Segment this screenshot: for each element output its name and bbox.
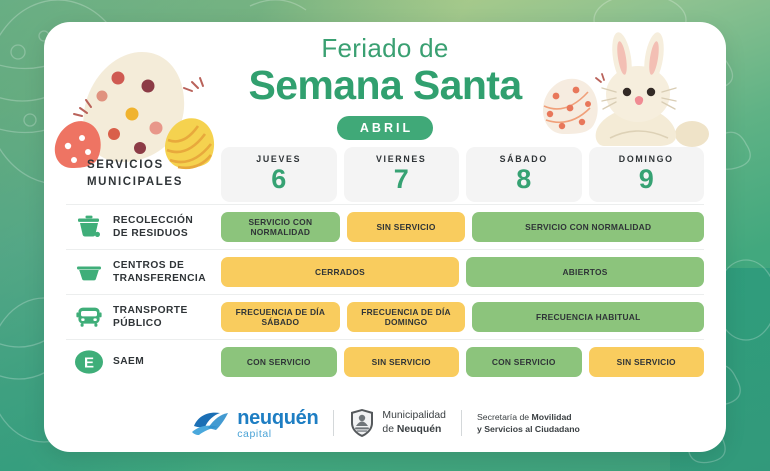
status-badge: SIN SERVICIO <box>589 347 705 377</box>
status-badge: SIN SERVICIO <box>344 347 460 377</box>
header: Feriado de Semana Santa ABRIL <box>44 34 726 140</box>
row-label-transporte: TRANSPORTE PÚBLICO <box>66 302 221 333</box>
status-badge: CON SERVICIO <box>221 347 337 377</box>
row-badges-transporte: FRECUENCIA DE DÍA SÁBADO FRECUENCIA DE D… <box>221 302 704 332</box>
row-label-centros: CENTROS DE TRANSFERENCIA <box>66 257 221 288</box>
municipalidad-text: Municipalidad de Neuquén <box>382 409 446 437</box>
row-label-saem: E SAEM <box>66 347 221 378</box>
day-box-jueves: JUEVES 6 <box>221 147 337 202</box>
table-header-row: SERVICIOS MUNICIPALES JUEVES 6 VIERNES <box>66 144 704 204</box>
day-number: 8 <box>516 165 531 193</box>
services-table: SERVICIOS MUNICIPALES JUEVES 6 VIERNES <box>66 144 704 384</box>
row-name-line1: SAEM <box>113 355 144 368</box>
row-name-recoleccion: RECOLECCIÓN DE RESIDUOS <box>113 214 193 241</box>
row-label-recoleccion: RECOLECCIÓN DE RESIDUOS <box>66 212 221 243</box>
sec-line2-bold: y Servicios al Ciudadano <box>477 424 580 434</box>
day-header-cell: SÁBADO 8 <box>466 147 582 202</box>
day-box-domingo: DOMINGO 9 <box>589 147 705 202</box>
muni-line1: Municipalidad <box>382 409 446 423</box>
corner-label-line2: MUNICIPALES <box>87 174 183 191</box>
muni-line2: de Neuquén <box>382 423 446 437</box>
day-header-cell: DOMINGO 9 <box>589 147 705 202</box>
neuquen-capital-logo: neuquén capital <box>175 408 333 440</box>
footer: neuquén capital Municipalidad de Neuquén <box>44 408 726 440</box>
row-name-line1: CENTROS DE <box>113 259 206 272</box>
brand-name: neuquén <box>237 408 318 428</box>
svg-text:E: E <box>83 355 93 372</box>
sec-line1-bold: Movilidad <box>532 412 572 422</box>
day-name: JUEVES <box>256 154 301 164</box>
brand-sub: capital <box>237 429 318 440</box>
status-badge: FRECUENCIA DE DÍA SÁBADO <box>221 302 340 332</box>
neuquen-wave-icon <box>190 408 230 438</box>
corner-label-line1: SERVICIOS <box>87 157 183 174</box>
sec-line1-plain: Secretaría de <box>477 412 532 422</box>
status-badge: SIN SERVICIO <box>347 212 466 242</box>
bus-icon <box>73 302 104 333</box>
day-header-cell: JUEVES 6 <box>221 147 337 202</box>
muni-line2-plain: de <box>382 424 396 435</box>
day-name: DOMINGO <box>619 154 674 164</box>
sec-line2: y Servicios al Ciudadano <box>477 423 580 436</box>
row-name-centros: CENTROS DE TRANSFERENCIA <box>113 259 206 286</box>
day-box-sabado: SÁBADO 8 <box>466 147 582 202</box>
municipal-shield-icon <box>349 408 375 438</box>
row-name-line2: DE RESIDUOS <box>113 227 193 240</box>
trash-bin-icon <box>73 212 104 243</box>
municipalidad-logo: Municipalidad de Neuquén <box>334 408 461 438</box>
status-badge: CERRADOS <box>221 257 459 287</box>
row-badges-recoleccion: SERVICIO CON NORMALIDAD SIN SERVICIO SER… <box>221 212 704 242</box>
table-row-centros: CENTROS DE TRANSFERENCIA CERRADOS ABIERT… <box>66 249 704 294</box>
transfer-container-icon <box>73 257 104 288</box>
row-name-line2: PÚBLICO <box>113 317 188 330</box>
day-number: 6 <box>271 165 286 193</box>
day-name: VIERNES <box>376 154 427 164</box>
sec-line1: Secretaría de Movilidad <box>477 411 580 424</box>
day-number: 7 <box>394 165 409 193</box>
day-headers: JUEVES 6 VIERNES 7 SÁBADO 8 <box>221 147 704 202</box>
secretaria-text-block: Secretaría de Movilidad y Servicios al C… <box>462 411 595 436</box>
main-card: Feriado de Semana Santa ABRIL SERVICIOS … <box>44 22 726 452</box>
secretaria-text: Secretaría de Movilidad y Servicios al C… <box>477 411 580 436</box>
neuquen-wordmark: neuquén capital <box>237 408 318 440</box>
row-badges-saem: CON SERVICIO SIN SERVICIO CON SERVICIO S… <box>221 347 704 377</box>
status-badge: CON SERVICIO <box>466 347 582 377</box>
row-name-saem: SAEM <box>113 355 144 368</box>
status-badge: ABIERTOS <box>466 257 704 287</box>
row-name-line1: RECOLECCIÓN <box>113 214 193 227</box>
row-name-transporte: TRANSPORTE PÚBLICO <box>113 304 188 331</box>
row-name-line1: TRANSPORTE <box>113 304 188 317</box>
muni-line2-bold: Neuquén <box>397 424 441 435</box>
row-name-line2: TRANSFERENCIA <box>113 272 206 285</box>
infographic-canvas: Feriado de Semana Santa ABRIL SERVICIOS … <box>0 0 770 471</box>
day-name: SÁBADO <box>500 154 548 164</box>
status-badge: SERVICIO CON NORMALIDAD <box>221 212 340 242</box>
table-row-recoleccion: RECOLECCIÓN DE RESIDUOS SERVICIO CON NOR… <box>66 204 704 249</box>
day-header-cell: VIERNES 7 <box>344 147 460 202</box>
table-row-saem: E SAEM CON SERVICIO SIN SERVICIO CON SER… <box>66 339 704 384</box>
day-box-viernes: VIERNES 7 <box>344 147 460 202</box>
month-badge: ABRIL <box>337 116 433 140</box>
day-number: 9 <box>639 165 654 193</box>
table-corner-label: SERVICIOS MUNICIPALES <box>66 157 221 190</box>
saem-e-icon: E <box>73 347 104 378</box>
table-row-transporte: TRANSPORTE PÚBLICO FRECUENCIA DE DÍA SÁB… <box>66 294 704 339</box>
header-subtitle: Feriado de <box>44 34 726 64</box>
status-badge: FRECUENCIA DE DÍA DOMINGO <box>347 302 466 332</box>
page-title: Semana Santa <box>44 63 726 109</box>
status-badge: FRECUENCIA HABITUAL <box>472 302 704 332</box>
status-badge: SERVICIO CON NORMALIDAD <box>472 212 704 242</box>
row-badges-centros: CERRADOS ABIERTOS <box>221 257 704 287</box>
